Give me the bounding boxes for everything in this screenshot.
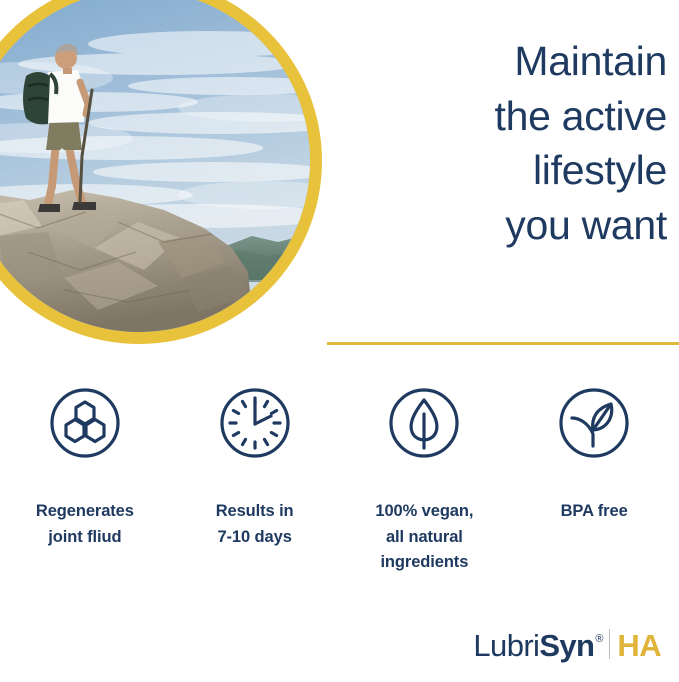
- benefit-caption: BPA free: [514, 499, 674, 525]
- logo-syn-text: Syn: [539, 628, 594, 664]
- benefit-caption-line: 7-10 days: [175, 525, 335, 551]
- benefit-caption-line: 100% vegan,: [344, 499, 504, 525]
- benefits-row: Regenerates joint fliud: [0, 386, 679, 576]
- benefit-caption-line: all natural: [344, 525, 504, 551]
- benefit-caption-line: Regenerates: [5, 499, 165, 525]
- benefit-caption-line: Results in: [175, 499, 335, 525]
- headline: Maintain the active lifestyle you want: [327, 34, 667, 252]
- benefit-caption-line: BPA free: [514, 499, 674, 525]
- clock-icon: [218, 386, 292, 460]
- benefit-item: 100% vegan, all natural ingredients: [340, 386, 510, 576]
- logo-lubri-text: Lubri: [473, 628, 539, 664]
- benefit-caption: Results in 7-10 days: [175, 499, 335, 550]
- honeycomb-hexagons-icon: [48, 386, 122, 460]
- headline-line: lifestyle: [327, 143, 667, 198]
- lubrisyn-ha-logo: Lubri Syn ® HA: [473, 626, 661, 664]
- sprout-icon: [557, 386, 631, 460]
- benefit-item: BPA free: [509, 386, 679, 576]
- headline-line: the active: [327, 89, 667, 144]
- leaf-icon: [387, 386, 461, 460]
- hero-image-frame: [0, 0, 322, 344]
- logo-divider: [609, 629, 611, 659]
- registered-trademark-icon: ®: [595, 633, 603, 645]
- gold-horizontal-rule: [327, 342, 679, 345]
- benefit-item: Regenerates joint fliud: [0, 386, 170, 576]
- headline-line: you want: [327, 198, 667, 253]
- logo-ha-text: HA: [617, 628, 661, 664]
- benefit-caption-line: joint fliud: [5, 525, 165, 551]
- benefit-caption: 100% vegan, all natural ingredients: [344, 499, 504, 576]
- benefit-caption: Regenerates joint fliud: [5, 499, 165, 550]
- headline-line: Maintain: [327, 34, 667, 89]
- benefit-item: Results in 7-10 days: [170, 386, 340, 576]
- benefit-caption-line: ingredients: [344, 550, 504, 576]
